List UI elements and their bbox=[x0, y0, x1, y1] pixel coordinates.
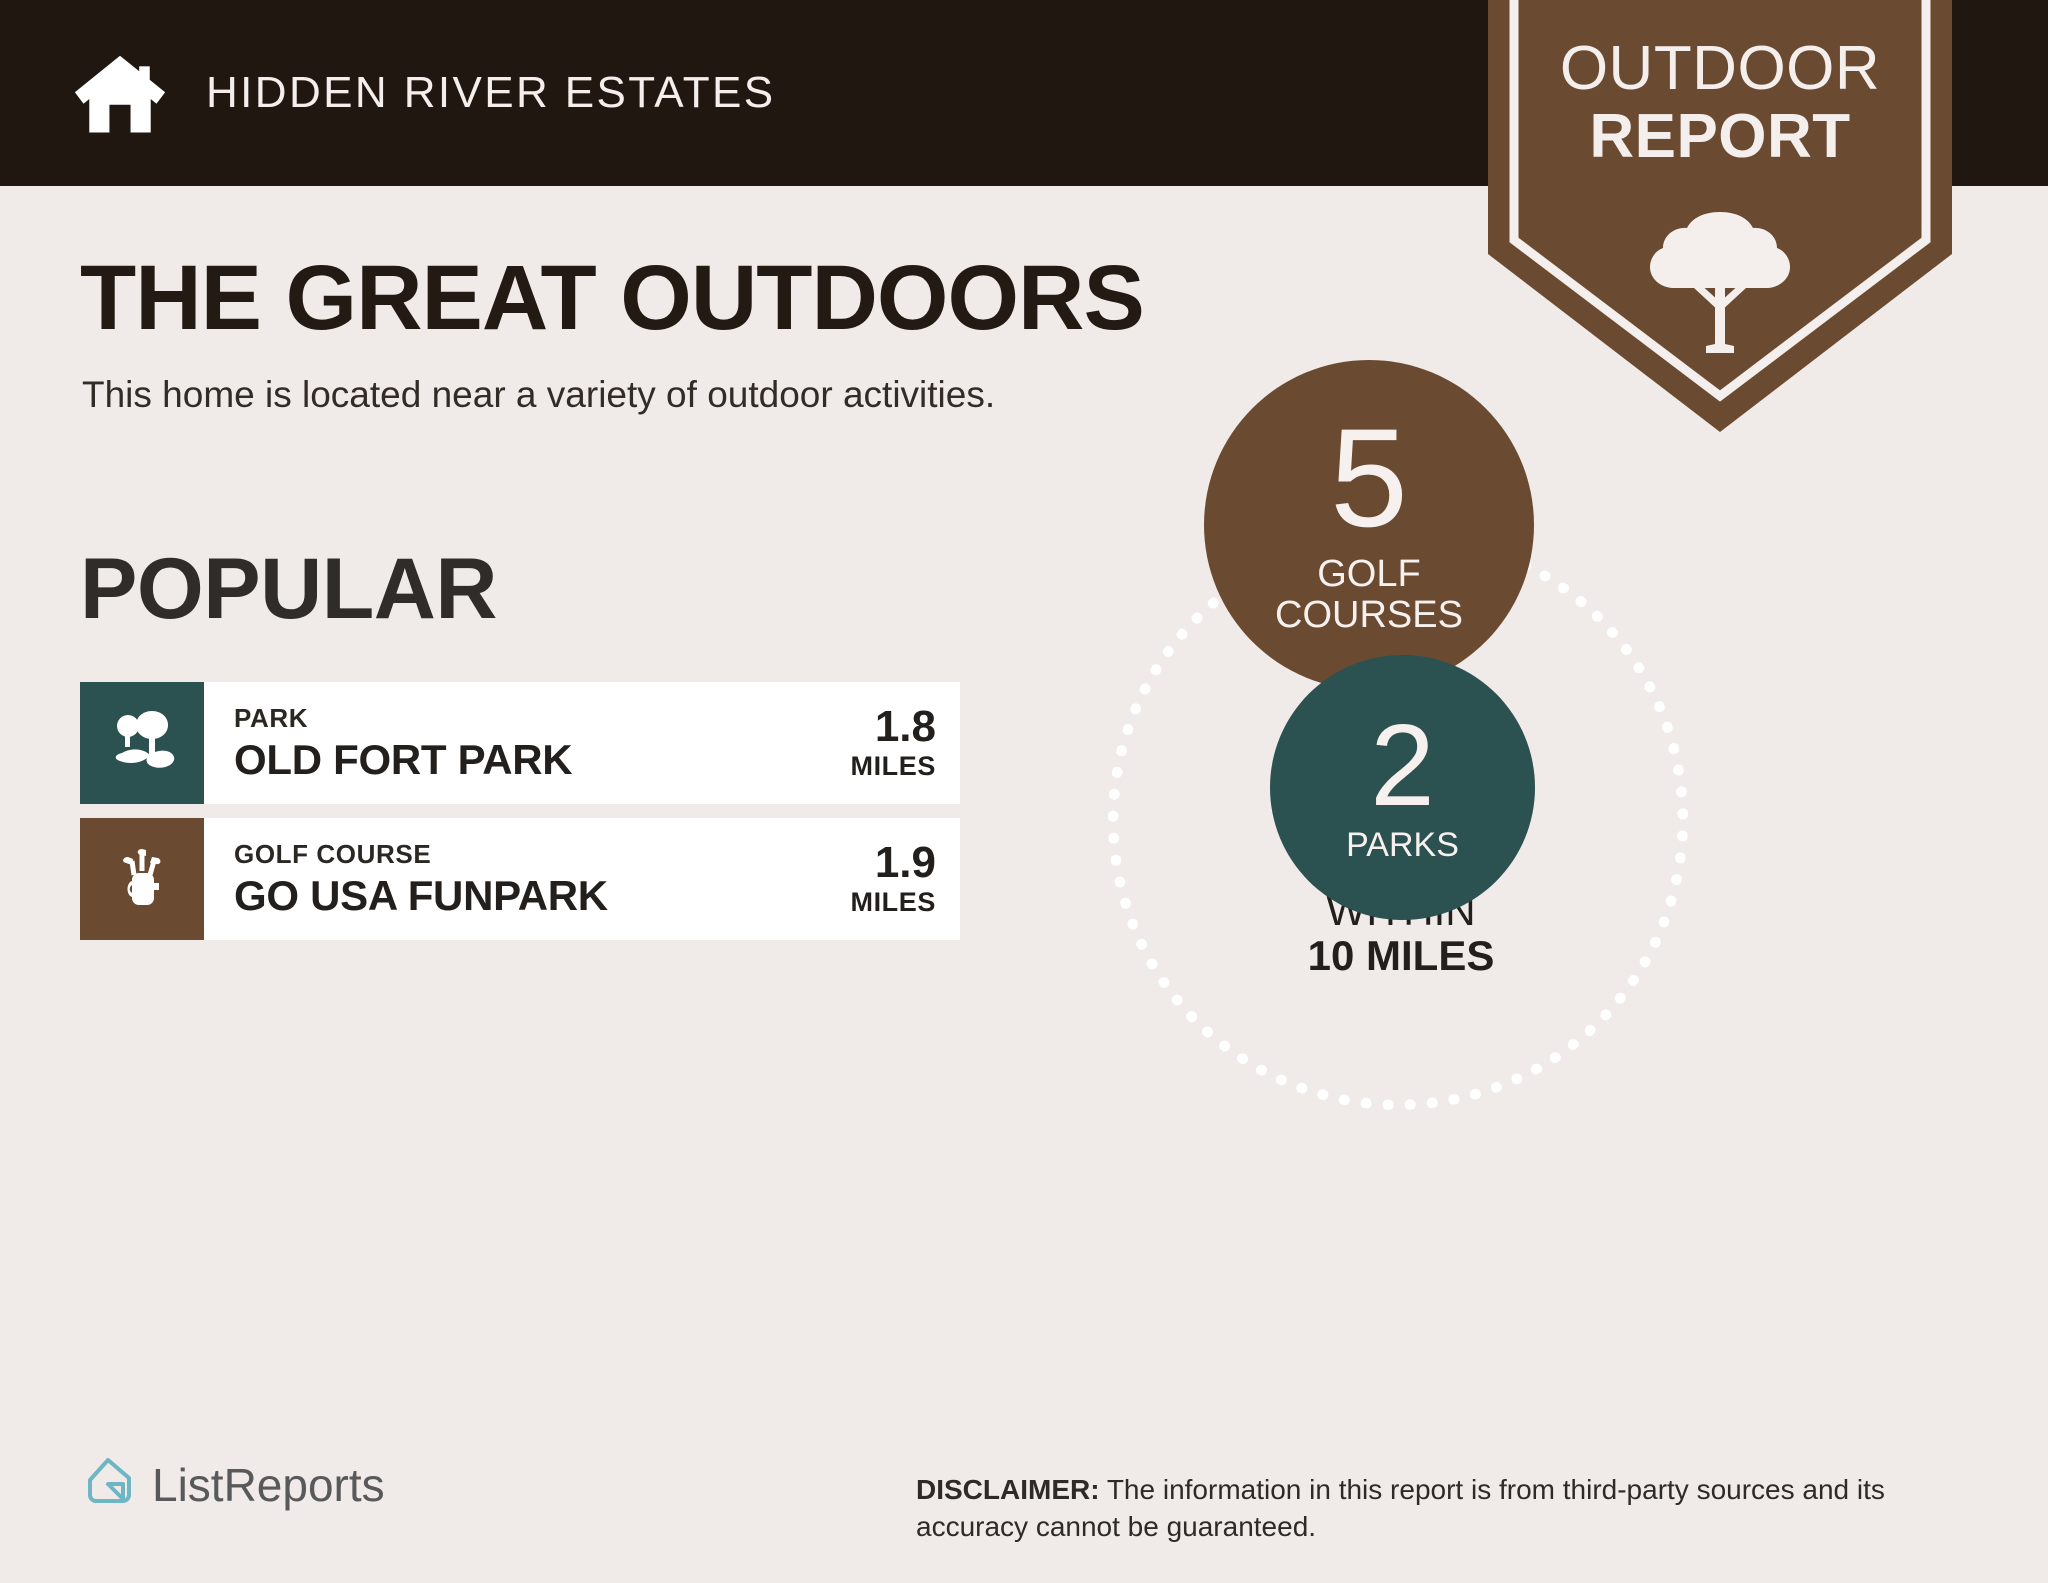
list-item-body: PARK OLD FORT PARK 1.8 MILES bbox=[204, 682, 960, 804]
distance-unit: MILES bbox=[850, 887, 936, 918]
list-item-text: PARK OLD FORT PARK bbox=[234, 703, 572, 784]
distance-value: 1.9 bbox=[850, 840, 936, 886]
park-tile bbox=[80, 682, 204, 804]
house-icon bbox=[72, 50, 168, 136]
disclaimer: DISCLAIMER: The information in this repo… bbox=[916, 1472, 1986, 1546]
golf-bag-icon bbox=[106, 841, 178, 918]
list-item-body: GOLF COURSE GO USA FUNPARK 1.9 MILES bbox=[204, 818, 960, 940]
list-item-distance: 1.9 MILES bbox=[850, 840, 936, 917]
stat-bubble-parks: 2 PARKS bbox=[1270, 655, 1535, 920]
outdoor-report-badge: OUTDOOR REPORT bbox=[1478, 0, 1962, 432]
listreports-logo[interactable]: ListReports bbox=[82, 1455, 385, 1514]
distance-unit: MILES bbox=[850, 751, 936, 782]
disclaimer-label: DISCLAIMER: bbox=[916, 1474, 1100, 1505]
radius-label-distance: 10 MILES bbox=[1286, 933, 1516, 979]
golf-tile bbox=[80, 818, 204, 940]
list-item-category: PARK bbox=[234, 703, 572, 734]
page-subtitle: This home is located near a variety of o… bbox=[82, 374, 995, 416]
parks-label: PARKS bbox=[1346, 827, 1459, 864]
park-trees-icon bbox=[106, 705, 178, 782]
list-item[interactable]: GOLF COURSE GO USA FUNPARK 1.9 MILES bbox=[80, 818, 960, 940]
list-item-name: GO USA FUNPARK bbox=[234, 872, 608, 920]
page-title: THE GREAT OUTDOORS bbox=[80, 246, 1144, 351]
badge-text: OUTDOOR REPORT bbox=[1478, 38, 1962, 168]
listreports-house-icon bbox=[82, 1455, 136, 1514]
list-item-text: GOLF COURSE GO USA FUNPARK bbox=[234, 839, 608, 920]
golf-courses-count: 5 bbox=[1330, 414, 1408, 543]
section-title-popular: POPULAR bbox=[80, 540, 497, 639]
listreports-wordmark: ListReports bbox=[152, 1458, 385, 1512]
distance-value: 1.8 bbox=[850, 704, 936, 750]
list-item-name: OLD FORT PARK bbox=[234, 736, 572, 784]
golf-courses-label: GOLF COURSES bbox=[1275, 554, 1463, 636]
list-item[interactable]: PARK OLD FORT PARK 1.8 MILES bbox=[80, 682, 960, 804]
popular-list: PARK OLD FORT PARK 1.8 MILES bbox=[80, 682, 960, 954]
golf-courses-label-line2: COURSES bbox=[1275, 595, 1463, 636]
badge-line-report: REPORT bbox=[1478, 106, 1962, 168]
within-radius-diagram: WITHIN 10 MILES 5 GOLF COURSES 2 PARKS bbox=[1080, 400, 1960, 1080]
badge-line-outdoor: OUTDOOR bbox=[1478, 38, 1962, 100]
list-item-distance: 1.8 MILES bbox=[850, 704, 936, 781]
list-item-category: GOLF COURSE bbox=[234, 839, 608, 870]
parks-count: 2 bbox=[1370, 712, 1435, 819]
golf-courses-label-line1: GOLF bbox=[1275, 554, 1463, 595]
community-name: HIDDEN RIVER ESTATES bbox=[206, 68, 776, 118]
